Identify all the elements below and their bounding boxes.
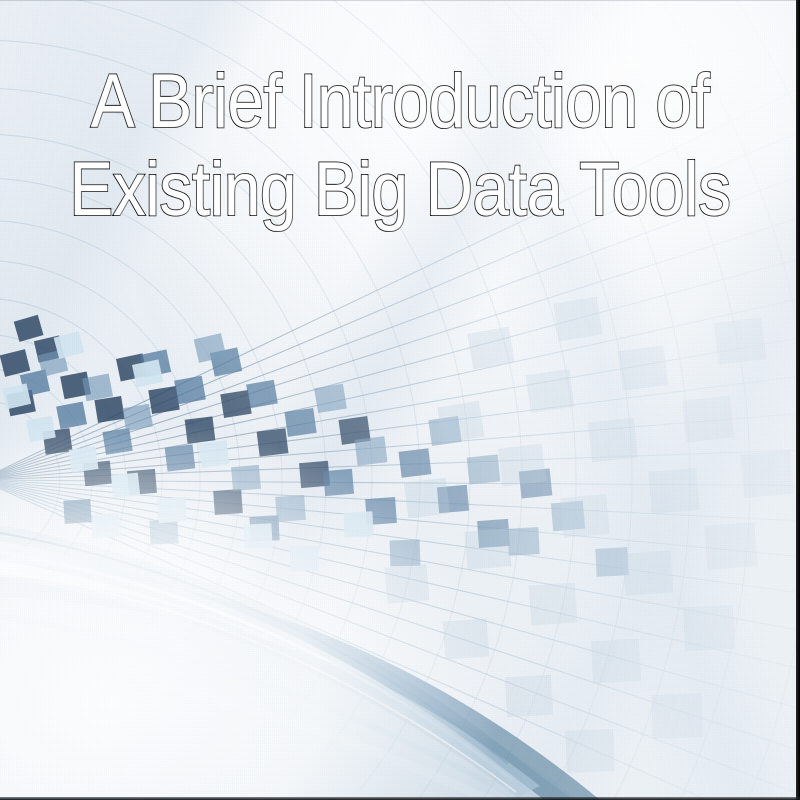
- frame-edge-top: [0, 0, 800, 1]
- title-slide: A Brief Introduction of Existing Big Dat…: [0, 0, 800, 800]
- frame-edge-right: [796, 0, 800, 800]
- title-line-2: Existing Big Data Tools: [54, 146, 746, 234]
- slide-title: A Brief Introduction of Existing Big Dat…: [0, 58, 800, 234]
- title-line-1: A Brief Introduction of: [54, 58, 746, 146]
